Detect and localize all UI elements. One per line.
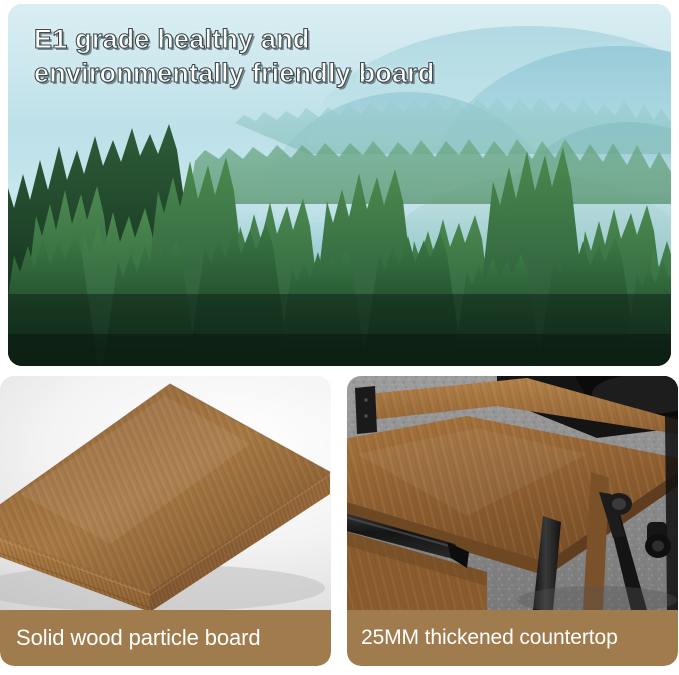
panel-thickened-countertop: 25MM thickened countertop <box>347 376 678 666</box>
product-feature-image: E1 grade healthy and environmentally fri… <box>0 0 679 675</box>
caption-bar-left: Solid wood particle board <box>0 610 331 666</box>
panel-solid-wood-particle-board: Solid wood particle board <box>0 376 331 666</box>
caption-bar-right: 25MM thickened countertop <box>347 610 678 666</box>
wood-slab-photo <box>0 376 331 610</box>
forest-banner: E1 grade healthy and environmentally fri… <box>8 4 671 366</box>
caption-text-right: 25MM thickened countertop <box>347 626 618 650</box>
desk-countertop-photo <box>347 376 678 610</box>
banner-headline: E1 grade healthy and environmentally fri… <box>34 22 554 90</box>
caption-text-left: Solid wood particle board <box>0 625 261 651</box>
